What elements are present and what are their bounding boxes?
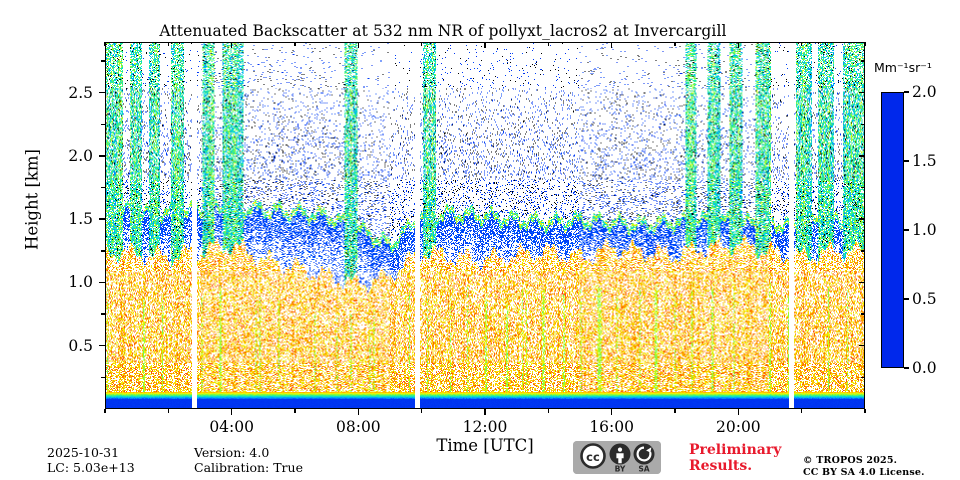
svg-text:cc: cc xyxy=(586,450,600,464)
x-tick-major xyxy=(611,409,612,415)
x-tick-minor-top xyxy=(421,42,422,46)
x-tick-minor xyxy=(548,409,549,413)
x-tick-major xyxy=(358,409,359,415)
x-tick-minor-top xyxy=(864,42,865,46)
preliminary-results-line2: Results. xyxy=(689,458,752,474)
y-tick-right xyxy=(859,92,865,93)
svg-text:BY: BY xyxy=(615,464,626,473)
svg-text:SA: SA xyxy=(638,464,649,473)
copyright-line1: © TROPOS 2025. xyxy=(803,455,897,466)
colorbar-gradient xyxy=(882,93,903,367)
lidar-quicklook-figure: Attenuated Backscatter at 532 nm NR of p… xyxy=(0,0,960,480)
x-tick-minor xyxy=(294,409,295,413)
y-axis-title: Height [km] xyxy=(23,50,42,350)
cc-by-sa-icon: cc BY SA xyxy=(573,441,661,474)
cc-by-sa-badge[interactable]: cc BY SA xyxy=(573,441,661,474)
x-tick-label: 04:00 xyxy=(209,418,254,436)
x-tick-minor xyxy=(801,409,802,413)
y-tick-major xyxy=(99,282,105,283)
x-tick-minor-top xyxy=(168,42,169,46)
colorbar-tick xyxy=(904,160,909,161)
x-tick-minor xyxy=(864,409,865,413)
x-tick-top xyxy=(738,42,739,48)
colorbar-tick-label: 2.0 xyxy=(912,83,937,101)
y-tick-right xyxy=(859,345,865,346)
y-tick-minor-right xyxy=(861,60,865,61)
y-tick-minor xyxy=(101,313,105,314)
x-tick-minor-top xyxy=(674,42,675,46)
y-tick-label: 2.5 xyxy=(0,84,93,102)
colorbar-unit-label: Mm⁻¹sr⁻¹ xyxy=(874,60,932,75)
y-tick-minor-right xyxy=(861,187,865,188)
y-tick-label: 1.5 xyxy=(0,210,93,228)
colorbar-tick xyxy=(904,298,909,299)
x-tick-major xyxy=(484,409,485,415)
page-title: Attenuated Backscatter at 532 nm NR of p… xyxy=(0,22,886,40)
x-tick-top xyxy=(231,42,232,48)
heatmap-canvas-wrapper xyxy=(106,43,864,408)
y-tick-label: 0.5 xyxy=(0,337,93,355)
x-tick-minor xyxy=(104,409,105,413)
x-tick-minor-top xyxy=(104,42,105,46)
x-tick-major xyxy=(231,409,232,415)
x-tick-top xyxy=(484,42,485,48)
backscatter-heatmap xyxy=(106,43,864,408)
y-tick-minor xyxy=(101,187,105,188)
x-tick-minor xyxy=(421,409,422,413)
colorbar-tick-label: 1.0 xyxy=(912,221,937,239)
colorbar[interactable] xyxy=(881,92,904,368)
y-tick-minor-right xyxy=(861,313,865,314)
y-tick-label: 2.0 xyxy=(0,147,93,165)
y-tick-right xyxy=(859,282,865,283)
plot-area[interactable] xyxy=(105,42,865,409)
colorbar-tick-label: 0.0 xyxy=(912,359,937,377)
colorbar-tick xyxy=(904,91,909,92)
y-tick-minor-right xyxy=(861,377,865,378)
x-tick-minor-top xyxy=(548,42,549,46)
x-tick-minor-top xyxy=(801,42,802,46)
preliminary-results-line1: Preliminary xyxy=(689,442,781,458)
x-tick-minor-top xyxy=(294,42,295,46)
x-tick-top xyxy=(611,42,612,48)
footer-version: Version: 4.0 xyxy=(194,445,269,460)
y-tick-major xyxy=(99,345,105,346)
footer-date: 2025-10-31 xyxy=(47,445,119,460)
x-tick-major xyxy=(738,409,739,415)
y-tick-label: 1.0 xyxy=(0,273,93,291)
x-tick-minor xyxy=(674,409,675,413)
y-tick-minor xyxy=(101,377,105,378)
x-tick-label: 08:00 xyxy=(336,418,381,436)
footer-lidar-constant: LC: 5.03e+13 xyxy=(47,460,135,475)
y-tick-major xyxy=(99,92,105,93)
y-tick-minor xyxy=(101,250,105,251)
y-tick-minor-right xyxy=(861,250,865,251)
colorbar-tick-label: 1.5 xyxy=(912,152,937,170)
x-tick-label: 20:00 xyxy=(716,418,761,436)
y-tick-minor-right xyxy=(861,124,865,125)
y-tick-right xyxy=(859,218,865,219)
y-tick-minor xyxy=(101,124,105,125)
y-tick-major xyxy=(99,155,105,156)
x-tick-top xyxy=(358,42,359,48)
footer-calibration: Calibration: True xyxy=(194,460,303,475)
y-tick-right xyxy=(859,155,865,156)
x-tick-label: 12:00 xyxy=(463,418,508,436)
license-line2: CC BY SA 4.0 License. xyxy=(803,467,925,478)
y-tick-major xyxy=(99,218,105,219)
y-tick-minor xyxy=(101,60,105,61)
colorbar-tick xyxy=(904,229,909,230)
colorbar-tick xyxy=(904,367,909,368)
x-tick-label: 16:00 xyxy=(589,418,634,436)
colorbar-tick-label: 0.5 xyxy=(912,290,937,308)
x-tick-minor xyxy=(168,409,169,413)
